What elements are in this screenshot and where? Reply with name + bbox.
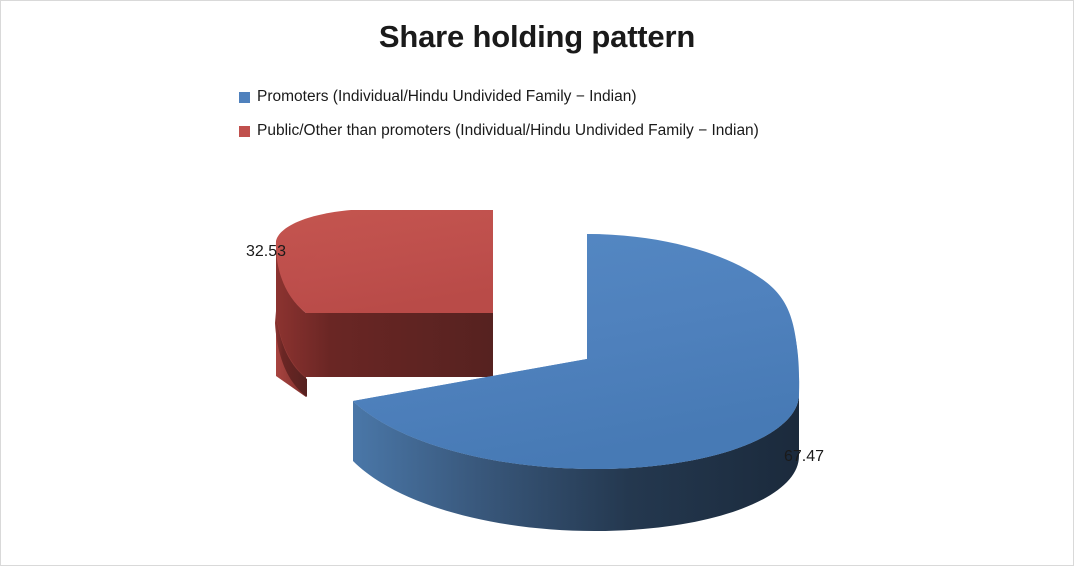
pie-chart-graphic <box>1 1 1074 566</box>
data-label-public: 32.53 <box>246 243 286 261</box>
data-label-promoters: 67.47 <box>784 448 824 466</box>
chart-container: Share holding pattern Promoters (Individ… <box>0 0 1074 566</box>
